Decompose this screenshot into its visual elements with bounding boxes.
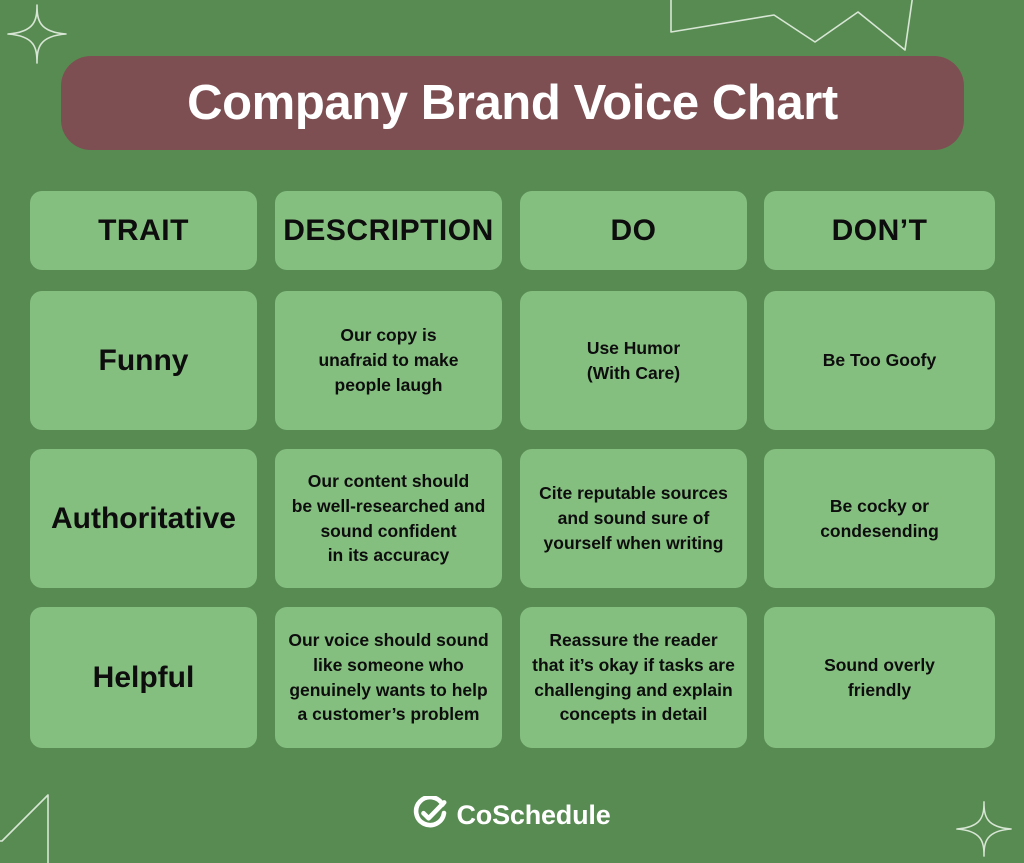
page-title: Company Brand Voice Chart (187, 75, 838, 131)
cell-description: Our content shouldbe well-researched and… (275, 449, 502, 588)
cell-trait: Funny (30, 291, 257, 430)
zigzag-icon (615, 0, 1015, 56)
cell-trait: Authoritative (30, 449, 257, 588)
brand-voice-table: TRAIT DESCRIPTION DO DON’T Funny Our cop… (30, 191, 995, 767)
brand-wordmark: CoSchedule (456, 800, 610, 831)
column-header-trait: TRAIT (30, 191, 257, 270)
cell-dont: Be cocky orcondesending (764, 449, 995, 588)
cell-do: Use Humor(With Care) (520, 291, 747, 430)
cell-description: Our voice should soundlike someone whoge… (275, 607, 502, 748)
cell-description: Our copy isunafraid to makepeople laugh (275, 291, 502, 430)
table-header-row: TRAIT DESCRIPTION DO DON’T (30, 191, 995, 270)
footer-logo: CoSchedule (0, 796, 1024, 835)
column-header-do: DO (520, 191, 747, 270)
column-header-description: DESCRIPTION (275, 191, 502, 270)
cell-dont: Be Too Goofy (764, 291, 995, 430)
title-banner: Company Brand Voice Chart (61, 56, 964, 150)
cell-trait: Helpful (30, 607, 257, 748)
cell-dont: Sound overlyfriendly (764, 607, 995, 748)
check-circle-icon (413, 796, 447, 835)
sparkle-icon (6, 3, 68, 65)
table-row: Authoritative Our content shouldbe well-… (30, 449, 995, 588)
cell-do: Reassure the readerthat it’s okay if tas… (520, 607, 747, 748)
cell-do: Cite reputable sourcesand sound sure ofy… (520, 449, 747, 588)
table-row: Funny Our copy isunafraid to makepeople … (30, 291, 995, 430)
column-header-dont: DON’T (764, 191, 995, 270)
table-row: Helpful Our voice should soundlike someo… (30, 607, 995, 748)
infographic-canvas: Company Brand Voice Chart TRAIT DESCRIPT… (0, 0, 1024, 859)
